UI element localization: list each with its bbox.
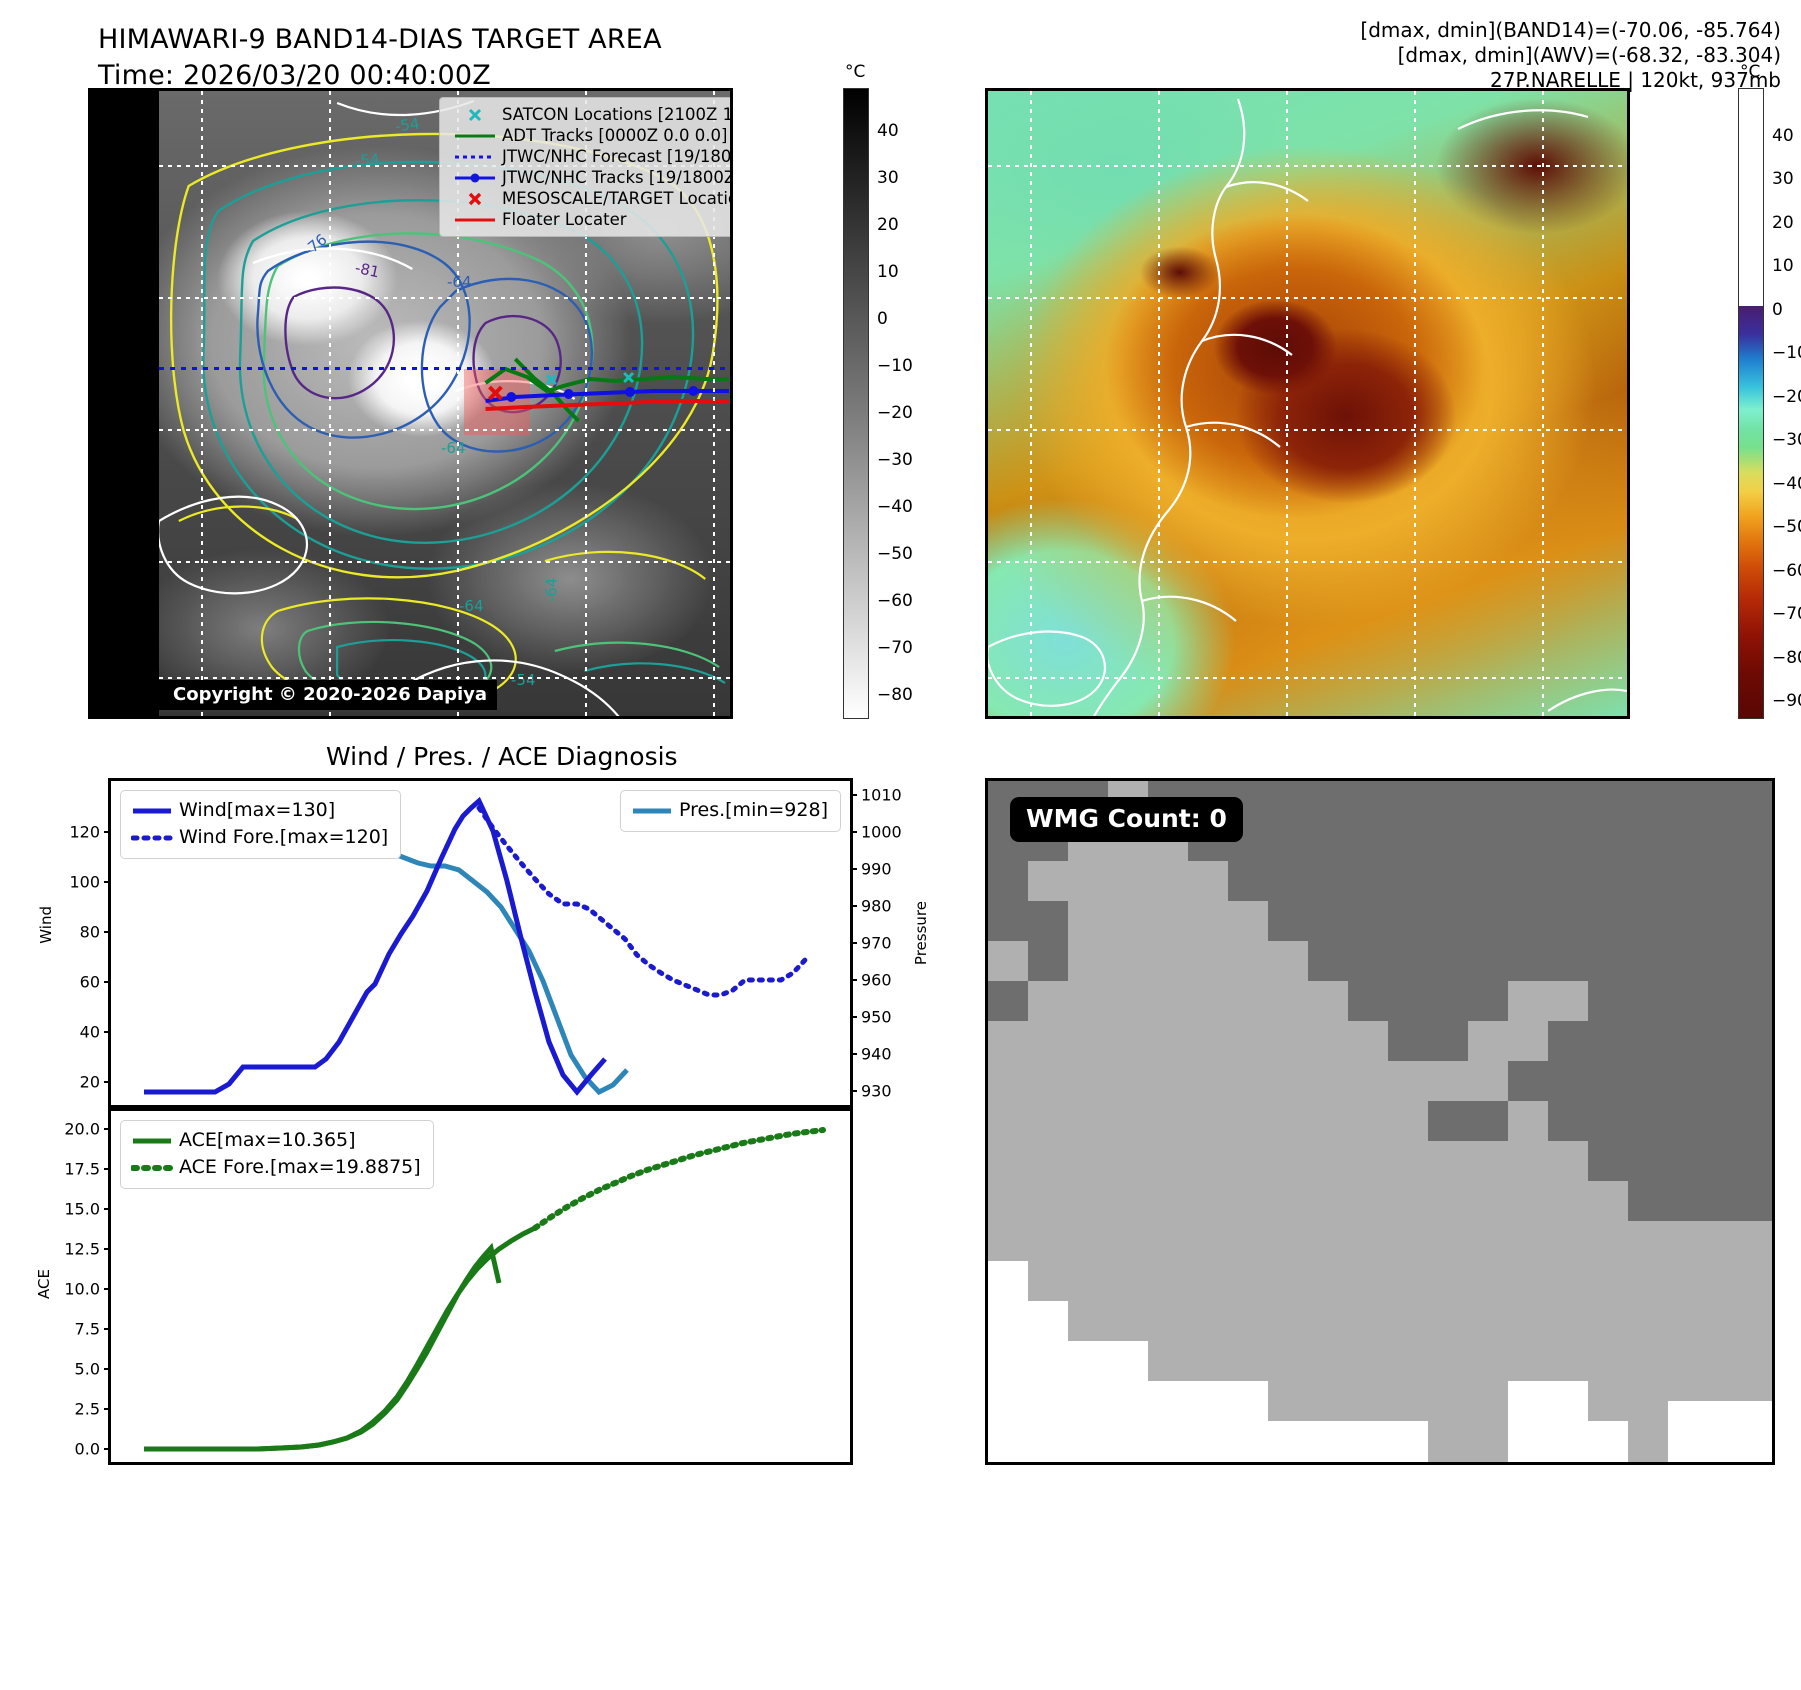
- legend-label: JTWC/NHC Forecast [19/1800Z]: [502, 146, 733, 167]
- cb-tick: −60: [877, 591, 913, 611]
- legend-label: MESOSCALE/TARGET Location: [502, 188, 733, 209]
- cb-tick: −50: [1772, 517, 1801, 537]
- colorbar-grayscale: 40 30 20 10 0 −10 −20 −30 −40 −50 −60 −7…: [843, 88, 869, 719]
- legend-row: JTWC/NHC Tracks [19/1800Z]: [448, 167, 733, 188]
- cb-tick: −60: [1772, 561, 1801, 581]
- colorbar-unit-color: °C: [1740, 62, 1760, 82]
- gridline-lon: [329, 91, 331, 716]
- ytick-ace: 17.5: [64, 1160, 100, 1179]
- gridline-lat: [159, 429, 730, 431]
- ytick-ace: 10.0: [64, 1280, 100, 1299]
- cb-tick: 10: [877, 262, 899, 282]
- cb-tick: 0: [1772, 300, 1783, 320]
- legend-row: ACE Fore.[max=19.8875]: [131, 1154, 421, 1181]
- legend-row: Wind Fore.[max=120]: [131, 824, 388, 851]
- map-legend: SATCON Locations [2100Z 132 930] ADT Tra…: [439, 97, 733, 237]
- wind-chart-title: Wind / Pres. / ACE Diagnosis: [326, 742, 678, 771]
- ytick-pressure: 930: [861, 1082, 892, 1101]
- ytick-wind: 40: [80, 1023, 100, 1042]
- cb-tick: 20: [1772, 213, 1794, 233]
- cb-tick: 30: [877, 168, 899, 188]
- ytick-pressure: 940: [861, 1045, 892, 1064]
- ytick-pressure: 960: [861, 971, 892, 990]
- cb-tick: −70: [1772, 604, 1801, 624]
- cb-tick: −80: [877, 685, 913, 705]
- x-marker-cyan-icon: [448, 106, 502, 124]
- ytick-wind: 100: [69, 873, 100, 892]
- cb-tick: −80: [1772, 648, 1801, 668]
- wind-pressure-chart[interactable]: Wind Pressure 20 40 60 80 100 120 930 94…: [108, 778, 853, 1108]
- cb-tick: −50: [877, 544, 913, 564]
- gridline-lat: [159, 561, 730, 563]
- gridline-lat: [159, 677, 730, 679]
- cb-tick: −20: [877, 403, 913, 423]
- legend-label: Wind[max=130]: [179, 797, 335, 824]
- page-title: HIMAWARI-9 BAND14-DIAS TARGET AREA: [98, 22, 662, 58]
- colorbar-unit-gray: °C: [845, 62, 865, 82]
- gridline-lon: [1542, 91, 1544, 716]
- cb-tick: 20: [877, 215, 899, 235]
- ytick-pressure: 950: [861, 1008, 892, 1027]
- cb-tick: −40: [877, 497, 913, 517]
- pressure-axis-label: Pressure: [912, 901, 930, 965]
- legend-row: Wind[max=130]: [131, 797, 388, 824]
- page-title-block: HIMAWARI-9 BAND14-DIAS TARGET AREA Time:…: [98, 22, 662, 94]
- legend-label: ACE Fore.[max=19.8875]: [179, 1154, 421, 1181]
- ytick-ace: 2.5: [75, 1400, 100, 1419]
- legend-label: ADT Tracks [0000Z 0.0 0.0]: [502, 125, 727, 146]
- dotted-blue-icon: [448, 153, 502, 161]
- ir-enhanced-map[interactable]: 10°S 12°S 14°S 16°S 18°S 138°E 140°E 142…: [985, 88, 1630, 719]
- coastline-overlay: [988, 91, 1627, 716]
- line-red-icon: [448, 216, 502, 224]
- gridline-lat: [988, 677, 1627, 679]
- line-dot-blue-icon: [448, 172, 502, 184]
- copyright-notice: Copyright © 2020-2026 Dapiya: [159, 680, 497, 710]
- ytick-ace: 12.5: [64, 1240, 100, 1259]
- legend-label: SATCON Locations [2100Z 132 930]: [502, 104, 733, 125]
- cb-tick: −30: [1772, 430, 1801, 450]
- legend-row: SATCON Locations [2100Z 132 930]: [448, 104, 733, 125]
- line-green-icon: [448, 132, 502, 140]
- legend-row: Floater Locater: [448, 209, 733, 230]
- gridline-lat: [988, 165, 1627, 167]
- ytick-ace: 15.0: [64, 1200, 100, 1219]
- ytick-ace: 5.0: [75, 1360, 100, 1379]
- ytick-pressure: 1010: [861, 786, 902, 805]
- ir-grayscale-map[interactable]: -54 -54 -76 -81 -64 -64 -64 -64 -54: [88, 88, 733, 719]
- dmax-dmin-band14: [dmax, dmin](BAND14)=(-70.06, -85.764): [1360, 18, 1781, 43]
- gridline-lon: [201, 91, 203, 716]
- cb-tick: 40: [877, 121, 899, 141]
- gridline-lat: [988, 297, 1627, 299]
- pressure-legend: Pres.[min=928]: [620, 790, 841, 832]
- ytick-pressure: 980: [861, 897, 892, 916]
- line-green-icon: [131, 1136, 179, 1146]
- cb-tick: −70: [877, 638, 913, 658]
- gridline-lat: [988, 429, 1627, 431]
- dotted-blue-icon: [131, 833, 179, 843]
- ytick-pressure: 1000: [861, 823, 902, 842]
- stats-block: [dmax, dmin](BAND14)=(-70.06, -85.764) […: [1360, 18, 1781, 93]
- legend-label: Wind Fore.[max=120]: [179, 824, 388, 851]
- dmax-dmin-awv: [dmax, dmin](AWV)=(-68.32, -83.304): [1360, 43, 1781, 68]
- ytick-ace: 0.0: [75, 1440, 100, 1459]
- ytick-pressure: 970: [861, 934, 892, 953]
- cb-tick: 40: [1772, 126, 1794, 146]
- satellite-imagery-color: [988, 91, 1627, 716]
- cb-tick: 30: [1772, 169, 1794, 189]
- cb-tick: −90: [1772, 691, 1801, 711]
- ytick-pressure: 990: [861, 860, 892, 879]
- gridline-lat: [159, 297, 730, 299]
- gridline-lon: [1414, 91, 1416, 716]
- x-marker-red-icon: [448, 190, 502, 208]
- wind-axis-label: Wind: [37, 906, 55, 944]
- legend-row: Pres.[min=928]: [631, 797, 828, 824]
- line-blue-icon: [131, 806, 179, 816]
- wind-legend: Wind[max=130] Wind Fore.[max=120]: [120, 790, 401, 859]
- wmg-mask-raster: [988, 781, 1772, 1462]
- legend-row: ADT Tracks [0000Z 0.0 0.0]: [448, 125, 733, 146]
- legend-row: ACE[max=10.365]: [131, 1127, 421, 1154]
- ytick-wind: 80: [80, 923, 100, 942]
- cb-tick: −10: [1772, 343, 1801, 363]
- jtwc-forecast-dotted-line: [159, 367, 730, 370]
- legend-row: MESOSCALE/TARGET Location: [448, 188, 733, 209]
- legend-label: JTWC/NHC Tracks [19/1800Z]: [502, 167, 733, 188]
- legend-label: Floater Locater: [502, 209, 627, 230]
- ytick-ace: 7.5: [75, 1320, 100, 1339]
- ytick-ace: 20.0: [64, 1120, 100, 1139]
- legend-row: JTWC/NHC Forecast [19/1800Z]: [448, 146, 733, 167]
- gridline-lon: [1286, 91, 1288, 716]
- ace-axis-label: ACE: [35, 1269, 53, 1299]
- cb-tick: −20: [1772, 387, 1801, 407]
- dotted-green-icon: [131, 1163, 179, 1173]
- ytick-wind: 60: [80, 973, 100, 992]
- line-teal-icon: [631, 806, 679, 816]
- colorbar-enhanced-ir: 40 30 20 10 0 −10 −20 −30 −40 −50 −60 −7…: [1738, 88, 1764, 719]
- ytick-wind: 20: [80, 1073, 100, 1092]
- cb-tick: 10: [1772, 256, 1794, 276]
- cb-tick: 0: [877, 309, 888, 329]
- ace-legend: ACE[max=10.365] ACE Fore.[max=19.8875]: [120, 1120, 434, 1189]
- cb-tick: −30: [877, 450, 913, 470]
- gridline-lat: [988, 561, 1627, 563]
- legend-label: Pres.[min=928]: [679, 797, 828, 824]
- gridline-lon: [1158, 91, 1160, 716]
- wmg-mask-panel[interactable]: WMG Count: 0: [985, 778, 1775, 1465]
- cb-tick: −10: [877, 356, 913, 376]
- cb-tick: −40: [1772, 474, 1801, 494]
- ace-chart[interactable]: ACE 0.0 2.5 5.0 7.5 10.0 12.5 15.0 17.5 …: [108, 1108, 853, 1465]
- legend-label: ACE[max=10.365]: [179, 1127, 356, 1154]
- wmg-count-badge: WMG Count: 0: [1010, 797, 1243, 842]
- ytick-wind: 120: [69, 823, 100, 842]
- gridline-lon: [1030, 91, 1032, 716]
